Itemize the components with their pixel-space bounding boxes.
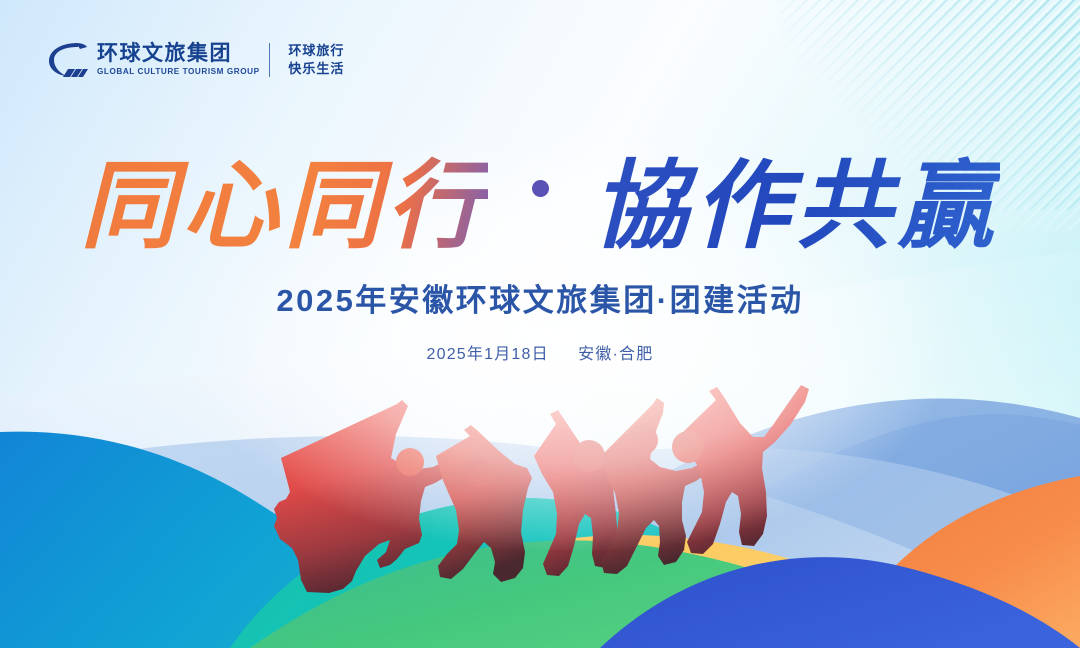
logo-divider: [269, 43, 270, 77]
event-date: 2025年1月18日: [427, 346, 549, 363]
global-culture-tourism-group-swoosh-icon: [46, 40, 88, 80]
person-1-head: [396, 448, 424, 476]
logo-company-name-en: GLOBAL CULTURE TOURISM GROUP: [97, 67, 260, 77]
event-banner: 环球文旅集团 GLOBAL CULTURE TOURISM GROUP 环球旅行…: [0, 0, 1080, 648]
person-3-head: [573, 440, 605, 472]
person-5-head: [672, 431, 704, 463]
event-dateline: 2025年1月18日 安徽·合肥: [0, 340, 1080, 364]
event-subtitle: 2025年安徽环球文旅集团·团建活动: [0, 275, 1080, 320]
logo-tagline-line1: 环球旅行: [288, 42, 344, 60]
person-4-head: [628, 425, 658, 455]
headline: 同心同行 協作共贏: [0, 128, 1080, 267]
headline-separator-dot: [532, 180, 549, 197]
headline-left: 同心同行: [80, 128, 488, 267]
headline-right: 協作共贏: [592, 128, 1000, 267]
scenery-illustration: [0, 0, 1080, 648]
company-logo[interactable]: 环球文旅集团 GLOBAL CULTURE TOURISM GROUP 环球旅行…: [46, 40, 344, 80]
person-2-head: [464, 457, 494, 487]
logo-tagline: 环球旅行 快乐生活: [288, 42, 344, 78]
logo-company-name-cn: 环球文旅集团: [97, 43, 256, 65]
logo-text-block: 环球文旅集团 GLOBAL CULTURE TOURISM GROUP: [97, 43, 256, 77]
logo-tagline-line2: 快乐生活: [288, 60, 344, 78]
event-location: 安徽·合肥: [578, 346, 653, 363]
